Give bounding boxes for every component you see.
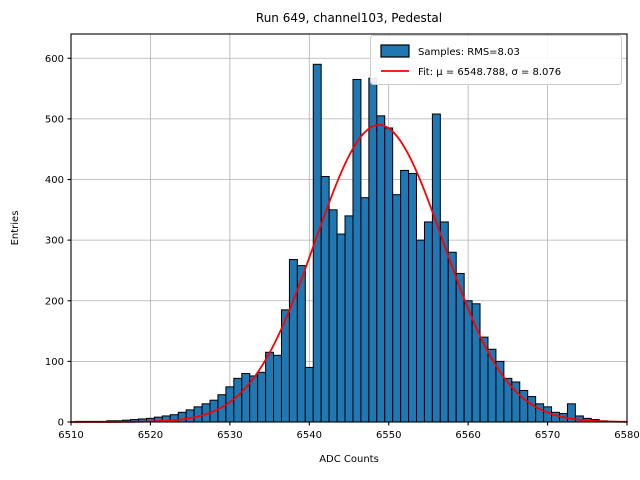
- histogram-bar: [234, 378, 242, 422]
- histogram-bar: [417, 240, 425, 422]
- x-tick-label: 6580: [614, 430, 639, 441]
- histogram-bar: [369, 78, 377, 422]
- x-tick-label: 6540: [297, 430, 322, 441]
- histogram-bar: [242, 374, 250, 423]
- chart-title: Run 649, channel103, Pedestal: [256, 11, 442, 25]
- histogram-plot: 6510652065306540655065606570658001002003…: [0, 0, 640, 480]
- histogram-bar: [385, 128, 393, 422]
- histogram-bar: [353, 79, 361, 422]
- legend-label-fit: Fit: μ = 6548.788, σ = 8.076: [418, 67, 561, 78]
- histogram-bar: [393, 195, 401, 422]
- y-tick-label: 500: [45, 114, 64, 125]
- histogram-bar: [528, 397, 536, 422]
- y-tick-label: 600: [45, 54, 64, 65]
- histogram-bar: [409, 173, 417, 422]
- histogram-bar: [345, 216, 353, 422]
- histogram-bar: [258, 372, 266, 422]
- histogram-bar: [194, 407, 202, 422]
- chart-legend: Samples: RMS=8.03 Fit: μ = 6548.788, σ =…: [371, 36, 622, 85]
- histogram-bar: [305, 367, 313, 422]
- histogram-bar: [464, 301, 472, 422]
- x-tick-label: 6520: [138, 430, 163, 441]
- x-axis-label: ADC Counts: [319, 454, 379, 465]
- histogram-bar: [432, 114, 440, 422]
- histogram-bar: [448, 252, 456, 422]
- x-tick-label: 6530: [217, 430, 242, 441]
- x-tick-label: 6560: [455, 430, 480, 441]
- y-tick-label: 400: [45, 175, 64, 186]
- histogram-bar: [186, 410, 194, 422]
- histogram-bar: [274, 355, 282, 422]
- histogram-bar: [377, 116, 385, 422]
- histogram-bar: [329, 210, 337, 422]
- histogram-bar: [337, 234, 345, 422]
- histogram-bar: [289, 260, 297, 422]
- legend-swatch-samples: [381, 45, 409, 57]
- y-axis-label: Entries: [10, 211, 21, 246]
- x-tick-label: 6570: [535, 430, 560, 441]
- histogram-bar: [361, 198, 369, 422]
- legend-label-samples: Samples: RMS=8.03: [418, 47, 520, 58]
- histogram-bar: [401, 170, 409, 422]
- histogram-bar: [424, 222, 432, 422]
- x-tick-label: 6510: [58, 430, 83, 441]
- chart-figure: 6510652065306540655065606570658001002003…: [0, 0, 640, 480]
- x-tick-label: 6550: [376, 430, 401, 441]
- y-tick-label: 100: [45, 357, 64, 368]
- legend-item-samples: Samples: RMS=8.03: [381, 45, 520, 58]
- y-tick-label: 300: [45, 236, 64, 247]
- y-tick-label: 200: [45, 296, 64, 307]
- histogram-bar: [266, 352, 274, 422]
- y-tick-label: 0: [58, 418, 64, 429]
